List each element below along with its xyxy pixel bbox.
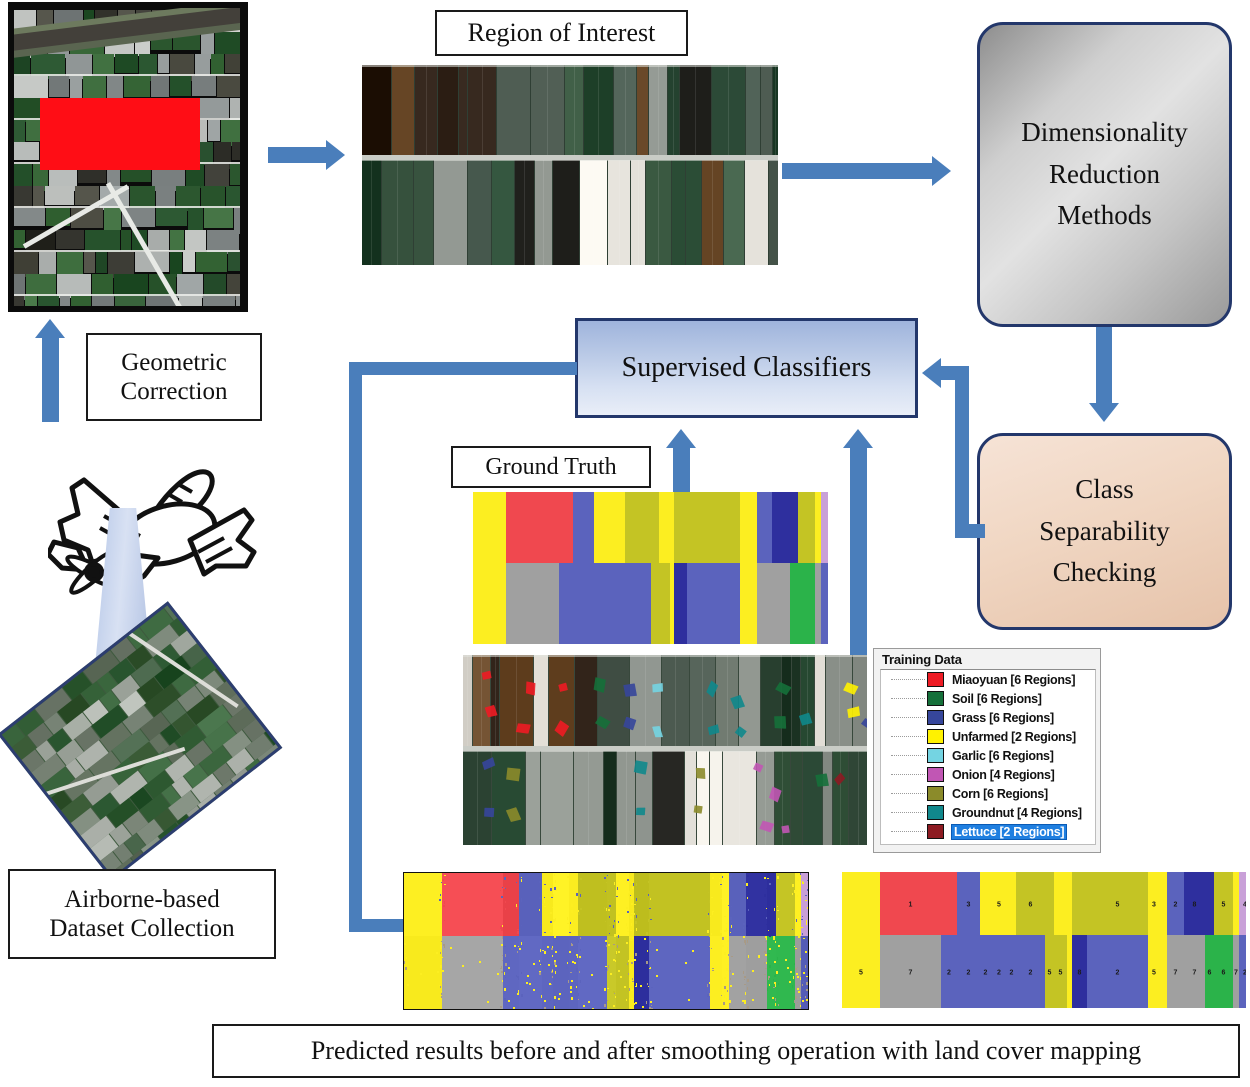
class-speckle [724,995,725,998]
arrow-separability-to-supervised-head [922,358,941,388]
class-speckle [575,982,576,983]
field-strip [686,159,701,265]
class-speckle [792,909,793,910]
region-of-interest-text: Region of Interest [468,18,656,49]
class-speckle [450,947,452,949]
class-separability-box[interactable]: Class Separability Checking [977,433,1232,630]
class-speckle [743,971,744,974]
class-region-bottom [740,563,751,644]
class-speckle [571,920,573,923]
class-speckle [554,996,556,999]
region-number-label: 5 [997,901,1001,908]
arrow-supervised-elbow-v [349,362,362,932]
class-speckle [550,912,552,914]
class-speckle [631,989,633,991]
field-patch [60,296,70,306]
class-speckle [711,897,713,898]
arrow-supervised-elbow-h-bottom [349,919,409,932]
class-speckle [505,901,506,903]
legend-row-2[interactable]: Soil [6 Regions] [881,689,1095,708]
class-region-top [757,492,772,563]
class-speckle [708,913,709,915]
class-speckle [529,983,531,985]
class-region-top [1045,872,1054,935]
class-region-bottom [559,563,573,644]
class-speckle [801,927,803,928]
class-speckle [607,988,609,989]
class-speckle [731,956,733,957]
class-speckle [806,976,808,977]
class-speckle [440,952,441,954]
class-speckle [504,972,505,975]
strip-texture [675,655,676,750]
class-speckle [636,883,637,886]
class-speckle [627,927,628,929]
class-speckle [548,964,550,966]
class-speckle [521,942,522,945]
class-speckle [768,976,770,978]
class-speckle [607,1000,608,1001]
class-speckle [769,984,770,986]
class-speckle [626,881,627,884]
field-strip [497,65,530,159]
region-number-label: 5 [1059,969,1063,976]
class-speckle [758,955,760,957]
separability-line-2: Separability [1039,511,1169,553]
legend-label: Onion [4 Regions] [952,768,1055,782]
class-speckle [796,873,798,875]
class-region-bottom [473,563,506,644]
class-speckle [554,1006,555,1009]
class-speckle [626,999,627,1001]
class-speckle [802,916,803,917]
legend-tick-icon [891,698,925,700]
airborne-dataset-label: Airborne-based Dataset Collection [8,869,276,959]
class-speckle [631,962,633,964]
training-data-legend[interactable]: Training Data Miaoyuan [6 Regions]Soil [… [873,648,1101,853]
class-speckle [604,988,606,991]
class-speckle [579,971,580,973]
strip-texture [695,65,696,159]
class-speckle [774,908,775,911]
class-region-bottom [573,563,594,644]
legend-row-1[interactable]: Miaoyuan [6 Regions] [881,670,1095,689]
class-speckle [707,984,708,987]
training-sample-image [463,655,867,845]
class-region-top [603,492,617,563]
field-patch [14,296,24,306]
region-number-label: 2 [1029,969,1033,976]
class-speckle [580,878,582,880]
class-speckle [608,965,609,968]
field-border [12,294,244,296]
class-speckle [626,923,627,926]
class-speckle [505,963,507,966]
field-patch [115,296,145,306]
class-region-top [776,873,795,936]
class-speckle [609,916,610,918]
field-strip [782,655,791,750]
class-speckle [592,1008,594,1010]
class-speckle [479,961,481,963]
legend-row-7[interactable]: Corn [6 Regions] [881,784,1095,803]
class-speckle [540,926,541,928]
scene-edge [8,306,248,312]
class-speckle [795,996,797,999]
supervised-classifiers-box[interactable]: Supervised Classifiers [575,318,918,418]
class-speckle [722,978,723,980]
class-speckle [711,873,713,874]
bottom-caption-text: Predicted results before and after smoot… [311,1036,1141,1067]
field-patch [217,76,242,97]
class-speckle [500,890,501,891]
class-speckle [712,970,714,971]
class-speckle [555,965,557,967]
class-speckle [712,962,714,964]
strip-texture [598,65,599,159]
class-speckle [803,972,805,974]
airborne-line-1: Airborne-based [64,885,220,915]
region-number-label: 8 [1078,969,1082,976]
class-speckle [743,936,745,938]
strip-texture [658,65,659,159]
class-speckle [444,901,445,904]
class-speckle [712,911,714,912]
class-speckle [778,921,780,922]
field-strip [769,159,778,265]
class-speckle [571,980,573,982]
class-speckle [521,879,522,882]
class-speckle [797,878,798,879]
class-speckle [629,937,631,938]
class-speckle [776,971,778,974]
class-speckle [744,883,745,884]
class-speckle [443,905,445,907]
class-region-top [746,873,767,936]
class-region-bottom [649,936,710,1009]
arrow-training-to-supervised [850,448,867,663]
class-speckle [768,930,769,931]
class-speckle [440,894,441,896]
region-number-label: 5 [859,969,863,976]
class-speckle [722,876,723,878]
arrow-scene-to-roi [268,147,326,163]
field-patch [170,76,191,96]
class-speckle [583,1005,585,1007]
class-speckle [609,925,611,926]
class-speckle [743,923,745,925]
class-speckle [649,908,651,909]
class-speckle [436,952,438,954]
class-region-top [710,873,722,936]
class-speckle [578,993,579,996]
class-region-bottom [594,563,603,644]
class-speckle [727,930,728,931]
strip-texture [371,159,372,265]
dimensionality-line-2: Reduction [1049,154,1160,196]
class-speckle [806,989,808,991]
class-speckle [574,962,576,964]
field-strip [534,655,548,750]
region-number-label: 2 [1116,969,1120,976]
ground-truth-map [473,492,828,644]
class-speckle [635,965,637,966]
region-of-interest-label: Region of Interest [435,10,688,56]
class-speckle [773,979,774,981]
legend-tick-icon [891,679,925,681]
class-speckle [710,916,711,917]
class-speckle [688,999,690,1001]
class-speckle [580,949,581,951]
field-strip [604,750,616,845]
field-strip [823,750,832,845]
field-strip [459,65,467,159]
class-speckle [651,1005,652,1006]
field-border [12,250,244,252]
field-patch [225,54,240,73]
arrow-training-to-supervised-head [843,429,873,448]
class-speckle [610,973,612,975]
class-region-bottom [1160,935,1167,1008]
legend-row-3[interactable]: Grass [6 Regions] [881,708,1095,727]
class-region-top [659,492,670,563]
class-speckle [634,913,635,915]
class-speckle [632,882,633,883]
class-speckle [527,975,529,977]
class-speckle [726,931,727,932]
region-number-label: 7 [1234,969,1238,976]
field-patch [135,32,150,56]
class-speckle [747,979,749,982]
class-speckle [514,945,516,947]
class-speckle [539,897,541,899]
field-patch [188,208,203,231]
class-region-top [442,873,503,936]
class-speckle [642,1006,644,1008]
class-speckle [624,986,626,988]
class-speckle [719,878,720,879]
field-patch [151,32,172,50]
class-speckle [618,970,620,972]
class-speckle [802,984,803,986]
class-speckle [550,998,551,1001]
class-speckle [720,936,721,937]
class-speckle [404,882,405,884]
class-speckle [692,950,694,952]
class-speckle [803,931,805,932]
class-speckle [730,932,731,933]
class-region-top [740,492,751,563]
field-strip [575,655,597,750]
class-speckle [731,906,732,907]
class-speckle [578,940,579,943]
arrow-roi-to-dimensionality-head [932,156,951,186]
field-strip [672,159,685,265]
class-speckle [777,876,779,879]
class-region-bottom [772,563,790,644]
class-speckle [748,909,749,911]
field-strip [468,159,491,265]
class-speckle [803,981,804,983]
class-speckle [746,925,748,927]
class-region-top [980,872,991,935]
class-speckle [629,959,630,961]
class-speckle [580,894,581,897]
class-region-bottom [710,936,722,1009]
class-speckle [722,943,723,944]
strip-texture [673,65,674,159]
class-speckle [533,989,535,991]
class-speckle [726,928,727,931]
class-speckle [608,944,610,946]
legend-row-8[interactable]: Groundnut [4 Regions] [881,803,1095,822]
legend-rows[interactable]: Miaoyuan [6 Regions]Soil [6 Regions]Gras… [880,669,1096,845]
class-speckle [650,1001,652,1003]
class-speckle [508,1000,510,1002]
field-patch [96,252,107,273]
legend-row-6[interactable]: Onion [4 Regions] [881,765,1095,784]
class-speckle [806,922,807,925]
field-patch [179,296,202,306]
class-speckle [544,951,546,954]
field-patch [183,252,195,272]
class-speckle [797,988,799,990]
class-speckle [722,945,724,947]
class-speckle [631,998,633,999]
strip-texture [593,159,594,265]
class-speckle [806,999,808,1001]
class-speckle [404,961,405,964]
legend-tick-icon [891,717,925,719]
class-speckle [616,896,618,897]
class-speckle [797,895,798,897]
class-speckle [730,917,732,920]
field-patch [173,32,200,50]
legend-tick-icon [891,812,925,814]
class-speckle [640,985,642,987]
strip-texture [482,65,483,159]
legend-swatch [927,729,944,744]
class-speckle [539,881,541,883]
class-speckle [656,975,658,977]
class-region-top [687,492,740,563]
class-speckle [544,900,545,903]
legend-row-4[interactable]: Unfarmed [2 Regions] [881,727,1095,746]
class-speckle [777,910,779,911]
class-speckle [542,950,544,951]
class-speckle [521,972,522,974]
class-speckle [553,894,554,897]
class-speckle [608,900,609,901]
field-strip [598,655,629,750]
class-speckle [636,937,638,940]
field-strip [414,159,433,265]
class-speckle [731,875,732,877]
class-speckle [571,910,573,913]
class-speckle [724,986,726,989]
class-speckle [805,996,806,998]
class-speckle [807,880,809,881]
class-speckle [768,917,770,918]
region-number-label: 1 [909,901,913,908]
strip-texture [807,655,808,750]
ground-truth-text: Ground Truth [485,453,616,481]
legend-swatch [927,786,944,801]
field-patch [92,296,114,306]
field-strip [434,159,467,265]
class-speckle [559,993,561,995]
strip-texture [495,655,496,750]
class-speckle [607,875,608,876]
region-number-label: 6 [1222,969,1226,976]
class-speckle [575,899,576,900]
legend-swatch [927,824,944,839]
class-speckle [764,962,765,964]
class-speckle [651,1008,653,1009]
dimensionality-reduction-box[interactable]: Dimensionality Reduction Methods [977,22,1232,327]
legend-swatch [927,767,944,782]
class-speckle [567,962,568,964]
workflow-diagram: Region of Interest Dimensionality Reduct… [0,0,1250,1087]
strip-texture [638,159,639,265]
class-speckle [505,954,506,957]
class-speckle [578,999,579,1000]
class-speckle [714,967,716,969]
class-speckle [620,976,622,978]
field-patch [211,54,224,75]
class-speckle [719,882,720,885]
class-speckle [732,973,734,975]
class-region-bottom [790,563,798,644]
class-speckle [580,937,581,939]
class-speckle [793,976,794,979]
class-speckle [707,930,709,933]
class-speckle [773,919,774,921]
class-speckle [778,918,779,920]
class-region-bottom [674,563,687,644]
class-speckle [773,987,775,988]
class-speckle [777,906,778,907]
class-speckle [440,986,441,988]
legend-label: Miaoyuan [6 Regions] [952,673,1075,687]
class-region-bottom [634,936,649,1009]
legend-row-9[interactable]: Lettuce [2 Regions] [881,822,1095,841]
class-speckle [747,875,749,877]
class-speckle [487,1001,489,1003]
class-speckle [767,931,768,932]
class-speckle [631,896,632,899]
class-speckle [609,933,610,934]
class-speckle [569,880,570,881]
field-strip [761,65,772,159]
class-speckle [806,982,808,985]
class-speckle [571,997,573,1000]
field-patch [49,76,69,97]
class-speckle [711,948,712,949]
class-speckle [613,1005,615,1007]
class-speckle [555,890,557,891]
strip-texture [481,655,482,750]
class-speckle [649,968,651,969]
class-speckle [634,908,635,911]
class-speckle [571,944,573,946]
class-speckle [630,916,632,919]
class-speckle [752,999,754,1001]
legend-row-5[interactable]: Garlic [6 Regions] [881,746,1095,765]
field-patch [57,252,83,274]
region-number-label: 7 [909,969,913,976]
class-speckle [614,882,615,885]
